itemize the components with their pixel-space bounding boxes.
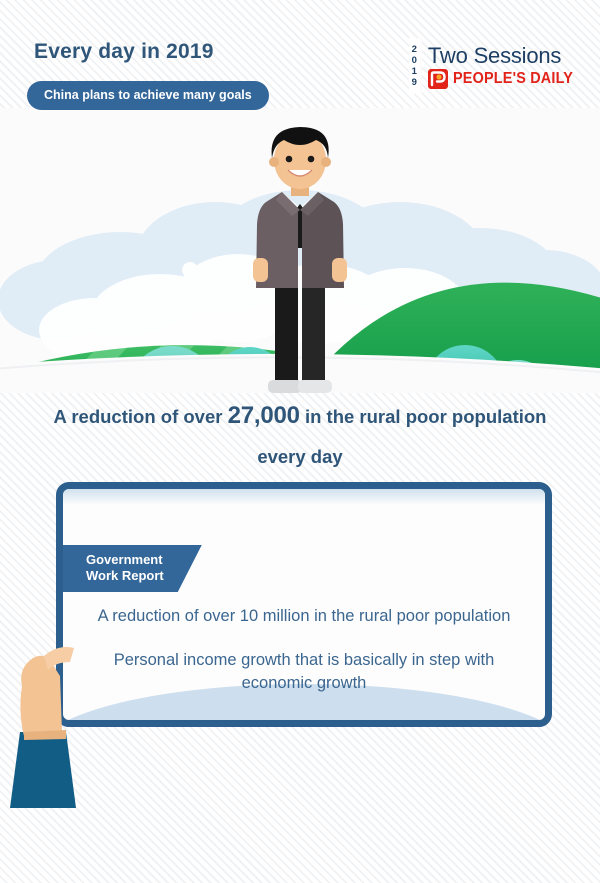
peoples-daily-logo-icon <box>428 69 448 89</box>
scene-illustration <box>0 108 600 393</box>
logo-year-digit-9: 9 <box>412 77 417 88</box>
logo-year-stack: 2 0 1 9 <box>409 38 422 94</box>
headline-suffix: in the rural poor population <box>300 406 547 427</box>
palm <box>20 656 62 736</box>
logo-brand-text: Two Sessions <box>428 44 582 68</box>
logo-publisher-row: PEOPLE'S DAILY <box>428 69 582 89</box>
logo-year-digit-1: 1 <box>412 66 417 77</box>
headline: A reduction of over 27,000 in the rural … <box>0 396 600 477</box>
report-line-2: Personal income growth that is basically… <box>93 649 515 695</box>
logo-text-block: Two Sessions PEOPLE'S DAILY <box>422 38 582 94</box>
government-work-report-tag: Government Work Report <box>63 545 202 592</box>
headline-prefix: A reduction of over <box>54 406 228 427</box>
logo-publisher-text: PEOPLE'S DAILY <box>453 70 573 88</box>
report-tag-line-1: Government <box>86 552 164 568</box>
hand-illustration <box>0 620 120 810</box>
report-card: Government Work Report A reduction of ov… <box>56 482 552 727</box>
publisher-logo: 2 0 1 9 Two Sessions PEOPLE'S DAILY <box>409 38 582 94</box>
logo-year-digit-2: 2 <box>412 44 417 55</box>
report-tag-line-2: Work Report <box>86 568 164 584</box>
report-card-wrapper: Government Work Report A reduction of ov… <box>56 482 552 727</box>
card-top-highlight <box>63 489 545 505</box>
sleeve <box>10 732 76 808</box>
headline-figure: 27,000 <box>228 402 300 429</box>
fingers <box>44 647 74 670</box>
page-title: Every day in 2019 <box>34 40 214 64</box>
headline-second-line: every day <box>24 437 576 477</box>
subtitle-badge: China plans to achieve many goals <box>27 81 269 110</box>
infographic-poster: Every day in 2019 China plans to achieve… <box>0 0 600 883</box>
report-card-body: A reduction of over 10 million in the ru… <box>63 605 545 695</box>
poster-header: Every day in 2019 China plans to achieve… <box>0 0 600 120</box>
report-line-1: A reduction of over 10 million in the ru… <box>93 605 515 628</box>
logo-year-digit-0: 0 <box>412 55 417 66</box>
